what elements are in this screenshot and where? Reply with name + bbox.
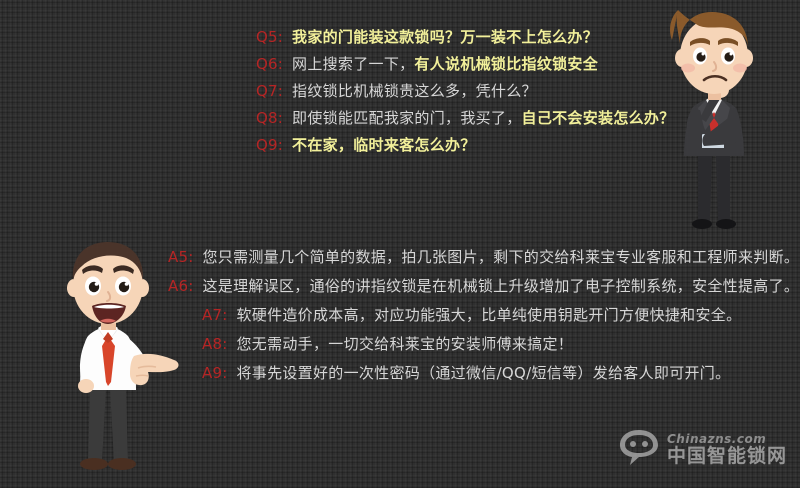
- answer-label-a6: A6:: [168, 279, 193, 294]
- question-label-q9: Q9:: [256, 138, 283, 153]
- answer-label-a9: A9:: [202, 366, 227, 381]
- answer-row-a8: A8: 您无需动手，一切交给科莱宝的安装师傅来搞定！: [202, 337, 799, 352]
- question-label-q8: Q8:: [256, 111, 283, 126]
- question-label-q6: Q6:: [256, 57, 283, 72]
- answer-row-a6: A6: 这是理解误区，通俗的讲指纹锁是在机械锁上升级增加了电子控制系统，安全性提…: [168, 279, 799, 294]
- question-text-q9: 不在家，临时来客怎么办？: [292, 138, 476, 153]
- answer-text-a8: 您无需动手，一切交给科莱宝的安装师傅来搞定！: [236, 337, 573, 352]
- question-text-q7: 指纹锁比机械锁贵这么多，凭什么？: [292, 84, 537, 99]
- watermark-text: Chinazns.com 中国智能锁网: [667, 433, 787, 466]
- cartoon-man-pointing-illustration: [38, 236, 188, 484]
- question-row-q8: Q8: 即使锁能匹配我家的门，我买了，自己不会安装怎么办？: [256, 111, 675, 126]
- question-list: Q5: 我家的门能装这款锁吗？万一装不上怎么办？ Q6: 网上搜索了一下，有人说…: [256, 30, 675, 165]
- question-text-q6: 网上搜索了一下，有人说机械锁比指纹锁安全: [292, 57, 598, 72]
- question-label-q7: Q7:: [256, 84, 283, 99]
- answer-text-a5: 您只需测量几个简单的数据，拍几张图片，剩下的交给科莱宝专业客服和工程师来判断。: [202, 250, 799, 265]
- answer-text-a6: 这是理解误区，通俗的讲指纹锁是在机械锁上升级增加了电子控制系统，安全性提高了。: [202, 279, 799, 294]
- question-row-q9: Q9: 不在家，临时来客怎么办？: [256, 138, 675, 153]
- question-row-q6: Q6: 网上搜索了一下，有人说机械锁比指纹锁安全: [256, 57, 675, 72]
- speech-bubble-logo-icon: [617, 427, 661, 471]
- page-root: Q5: 我家的门能装这款锁吗？万一装不上怎么办？ Q6: 网上搜索了一下，有人说…: [0, 0, 800, 488]
- answer-row-a7: A7: 软硬件造价成本高，对应功能强大，比单纯使用钥匙开门方便快捷和安全。: [202, 308, 799, 323]
- answer-label-a7: A7:: [202, 308, 227, 323]
- question-text-q8: 即使锁能匹配我家的门，我买了，自己不会安装怎么办？: [292, 111, 675, 126]
- answer-row-a5: A5: 您只需测量几个简单的数据，拍几张图片，剩下的交给科莱宝专业客服和工程师来…: [168, 250, 799, 265]
- question-label-q5: Q5:: [256, 30, 283, 45]
- question-text-q5: 我家的门能装这款锁吗？万一装不上怎么办？: [292, 30, 598, 45]
- question-row-q5: Q5: 我家的门能装这款锁吗？万一装不上怎么办？: [256, 30, 675, 45]
- watermark: Chinazns.com 中国智能锁网: [617, 424, 789, 474]
- answer-text-a9: 将事先设置好的一次性密码（通过微信/QQ/短信等）发给客人即可开门。: [236, 366, 730, 381]
- answer-list: A5: 您只需测量几个简单的数据，拍几张图片，剩下的交给科莱宝专业客服和工程师来…: [168, 250, 799, 395]
- cartoon-man-pointing: [38, 236, 188, 484]
- answer-label-a8: A8:: [202, 337, 227, 352]
- answer-label-a5: A5:: [168, 250, 193, 265]
- watermark-brand: 中国智能锁网: [667, 447, 787, 466]
- watermark-domain: Chinazns.com: [667, 433, 787, 445]
- answer-text-a7: 软硬件造价成本高，对应功能强大，比单纯使用钥匙开门方便快捷和安全。: [236, 308, 741, 323]
- question-row-q7: Q7: 指纹锁比机械锁贵这么多，凭什么？: [256, 84, 675, 99]
- answer-row-a9: A9: 将事先设置好的一次性密码（通过微信/QQ/短信等）发给客人即可开门。: [202, 366, 799, 381]
